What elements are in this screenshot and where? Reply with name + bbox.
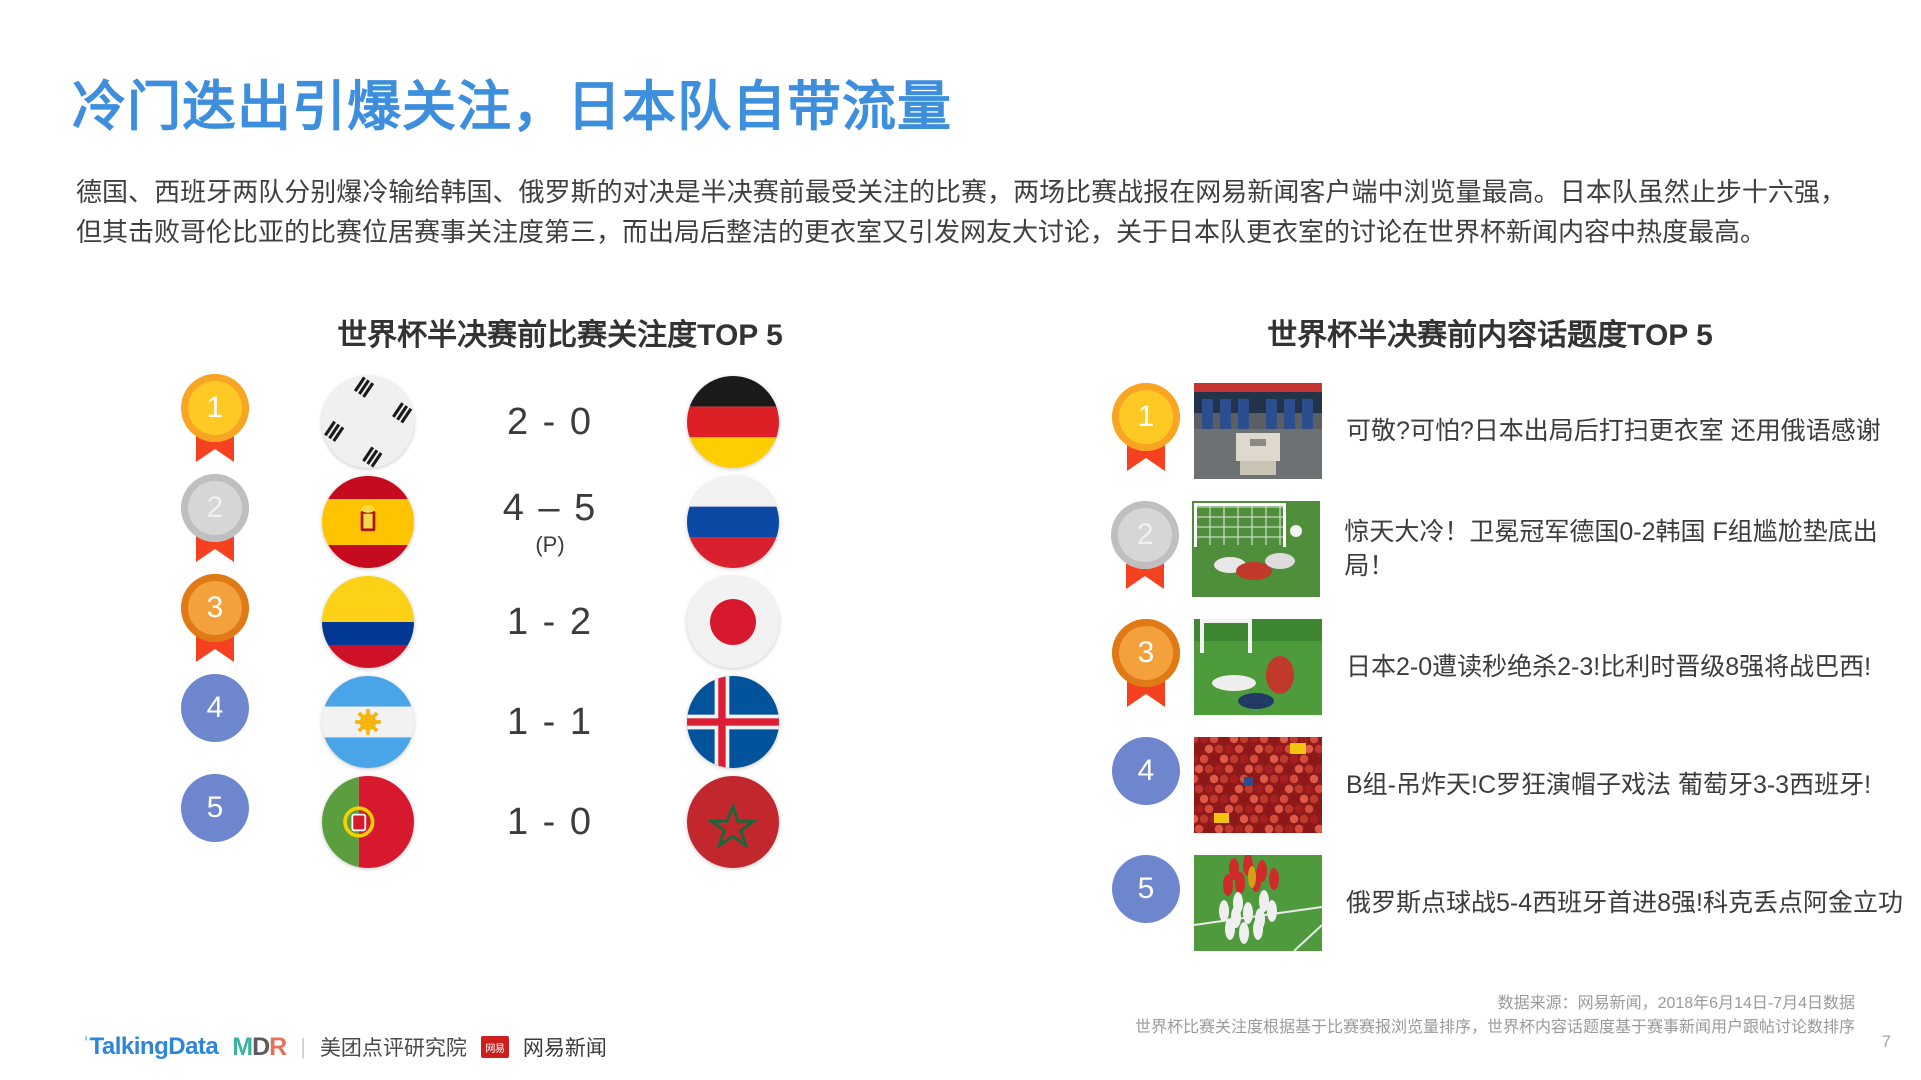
flag-icon-co bbox=[322, 576, 414, 668]
home-team-flag-cell bbox=[280, 776, 455, 868]
news-thumbnail[interactable] bbox=[1194, 619, 1322, 715]
meituan-research-logo: 美团点评研究院 bbox=[320, 1032, 467, 1062]
netease-mark-icon: 网易 bbox=[481, 1036, 509, 1058]
rank-badge: 5 bbox=[178, 774, 252, 870]
rank-badge: 4 bbox=[178, 674, 252, 770]
intro-paragraph: 德国、西班牙两队分别爆冷输给韩国、俄罗斯的对决是半决赛前最受关注的比赛，两场比赛… bbox=[76, 172, 1846, 252]
flag-icon-ar bbox=[322, 676, 414, 768]
news-headline[interactable]: 日本2-0遭读秒绝杀2-3!比利时晋级8强将战巴西! bbox=[1346, 650, 1918, 684]
rank-badge-number: 1 bbox=[181, 374, 249, 442]
rank-badge: 2 bbox=[178, 474, 252, 570]
news-row[interactable]: 5俄罗斯点球战5-4西班牙首进8强!科克丢点阿金立功 bbox=[1098, 844, 1918, 962]
news-row[interactable]: 3日本2-0遭读秒绝杀2-3!比利时晋级8强将战巴西! bbox=[1098, 608, 1918, 726]
match-score: 1 - 2 bbox=[455, 601, 645, 644]
source-note: 数据来源：网易新闻，2018年6月14日-7月4日数据 世界杯比赛关注度根据基于… bbox=[1135, 992, 1855, 1040]
match-rank-cell: 4 bbox=[150, 674, 280, 770]
flag-icon-is bbox=[687, 676, 779, 768]
match-row: 12 - 0 bbox=[150, 372, 960, 472]
rank-badge-number: 3 bbox=[1112, 619, 1180, 687]
away-team-flag-cell bbox=[645, 376, 820, 468]
news-headline[interactable]: 可敬?可怕?日本出局后打扫更衣室 还用俄语感谢 bbox=[1346, 414, 1918, 448]
match-row: 24 – 5(P) bbox=[150, 472, 960, 572]
rank-badge: 3 bbox=[1109, 619, 1183, 715]
match-rank-cell: 3 bbox=[150, 574, 280, 670]
match-score-note: (P) bbox=[455, 532, 645, 558]
news-thumbnail[interactable] bbox=[1192, 501, 1320, 597]
match-rank-cell: 2 bbox=[150, 474, 280, 570]
flag-icon-ma bbox=[687, 776, 779, 868]
news-row[interactable]: 1可敬?可怕?日本出局后打扫更衣室 还用俄语感谢 bbox=[1098, 372, 1918, 490]
match-row: 41 - 1 bbox=[150, 672, 960, 772]
news-row[interactable]: 2惊天大冷！卫冕冠军德国0-2韩国 F组尴尬垫底出局！ bbox=[1098, 490, 1918, 608]
flag-icon-jp bbox=[687, 576, 779, 668]
rank-badge-number: 4 bbox=[181, 674, 249, 742]
source-line-1: 数据来源：网易新闻，2018年6月14日-7月4日数据 bbox=[1135, 992, 1855, 1016]
match-score: 4 – 5 bbox=[455, 487, 645, 530]
match-score-cell: 1 - 2 bbox=[455, 601, 645, 644]
news-list: 1可敬?可怕?日本出局后打扫更衣室 还用俄语感谢2惊天大冷！卫冕冠军德国0-2韩… bbox=[1098, 372, 1918, 962]
match-list: 12 - 024 – 5(P)31 - 241 - 151 - 0 bbox=[150, 372, 960, 872]
left-section-heading: 世界杯半决赛前比赛关注度TOP 5 bbox=[180, 310, 940, 354]
source-line-2: 世界杯比赛关注度根据基于比赛赛报浏览量排序，世界杯内容话题度基于赛事新闻用户跟帖… bbox=[1135, 1016, 1855, 1040]
match-score-cell: 2 - 0 bbox=[455, 401, 645, 444]
home-team-flag-cell bbox=[280, 676, 455, 768]
rank-badge-number: 1 bbox=[1112, 383, 1180, 451]
match-score-cell: 1 - 1 bbox=[455, 701, 645, 744]
flag-icon-pt bbox=[322, 776, 414, 868]
news-thumbnail[interactable] bbox=[1194, 855, 1322, 951]
news-rank-cell: 4 bbox=[1098, 737, 1194, 833]
page-number: 7 bbox=[1882, 1032, 1891, 1052]
match-score: 2 - 0 bbox=[455, 401, 645, 444]
match-row: 31 - 2 bbox=[150, 572, 960, 672]
news-rank-cell: 3 bbox=[1098, 619, 1194, 715]
home-team-flag-cell bbox=[280, 476, 455, 568]
match-score-cell: 1 - 0 bbox=[455, 801, 645, 844]
rank-badge: 5 bbox=[1109, 855, 1183, 951]
match-rank-cell: 5 bbox=[150, 774, 280, 870]
match-rank-cell: 1 bbox=[150, 374, 280, 470]
match-score-cell: 4 – 5(P) bbox=[455, 487, 645, 558]
rank-badge-number: 5 bbox=[1112, 855, 1180, 923]
netease-news-logo: 网易新闻 bbox=[523, 1032, 607, 1062]
rank-badge: 1 bbox=[1109, 383, 1183, 479]
flag-icon-es bbox=[322, 476, 414, 568]
news-thumbnail[interactable] bbox=[1194, 383, 1322, 479]
news-headline[interactable]: 俄罗斯点球战5-4西班牙首进8强!科克丢点阿金立功 bbox=[1346, 886, 1918, 920]
home-team-flag-cell bbox=[280, 576, 455, 668]
news-rank-cell: 2 bbox=[1098, 501, 1192, 597]
match-score: 1 - 0 bbox=[455, 801, 645, 844]
news-headline[interactable]: 惊天大冷！卫冕冠军德国0-2韩国 F组尴尬垫底出局！ bbox=[1344, 515, 1918, 583]
away-team-flag-cell bbox=[645, 576, 820, 668]
flag-icon-kr bbox=[322, 376, 414, 468]
rank-badge-number: 2 bbox=[181, 474, 249, 542]
page-title: 冷门迭出引爆关注，日本队自带流量 bbox=[72, 62, 952, 141]
rank-badge-number: 3 bbox=[181, 574, 249, 642]
rank-badge-number: 4 bbox=[1112, 737, 1180, 805]
mdr-logo: MDR bbox=[232, 1033, 286, 1062]
rank-badge: 4 bbox=[1109, 737, 1183, 833]
away-team-flag-cell bbox=[645, 776, 820, 868]
news-rank-cell: 1 bbox=[1098, 383, 1194, 479]
rank-badge-number: 5 bbox=[181, 774, 249, 842]
match-score: 1 - 1 bbox=[455, 701, 645, 744]
away-team-flag-cell bbox=[645, 676, 820, 768]
flag-icon-ru bbox=[687, 476, 779, 568]
news-thumbnail[interactable] bbox=[1194, 737, 1322, 833]
logo-divider: | bbox=[300, 1034, 306, 1060]
rank-badge-number: 2 bbox=[1111, 501, 1179, 569]
flag-icon-de bbox=[687, 376, 779, 468]
right-section-heading: 世界杯半决赛前内容话题度TOP 5 bbox=[1080, 310, 1900, 354]
slide: 冷门迭出引爆关注，日本队自带流量 德国、西班牙两队分别爆冷输给韩国、俄罗斯的对决… bbox=[0, 0, 1921, 1080]
talkingdata-logo: ˈTalkingData bbox=[82, 1033, 218, 1061]
home-team-flag-cell bbox=[280, 376, 455, 468]
away-team-flag-cell bbox=[645, 476, 820, 568]
rank-badge: 2 bbox=[1108, 501, 1182, 597]
rank-badge: 3 bbox=[178, 574, 252, 670]
match-row: 51 - 0 bbox=[150, 772, 960, 872]
rank-badge: 1 bbox=[178, 374, 252, 470]
logo-bar: ˈTalkingData MDR | 美团点评研究院 网易 网易新闻 bbox=[82, 1032, 607, 1062]
news-headline[interactable]: B组-吊炸天!C罗狂演帽子戏法 葡萄牙3-3西班牙! bbox=[1346, 768, 1918, 802]
news-row[interactable]: 4B组-吊炸天!C罗狂演帽子戏法 葡萄牙3-3西班牙! bbox=[1098, 726, 1918, 844]
talkingdata-logo-label: TalkingData bbox=[90, 1033, 219, 1060]
news-rank-cell: 5 bbox=[1098, 855, 1194, 951]
